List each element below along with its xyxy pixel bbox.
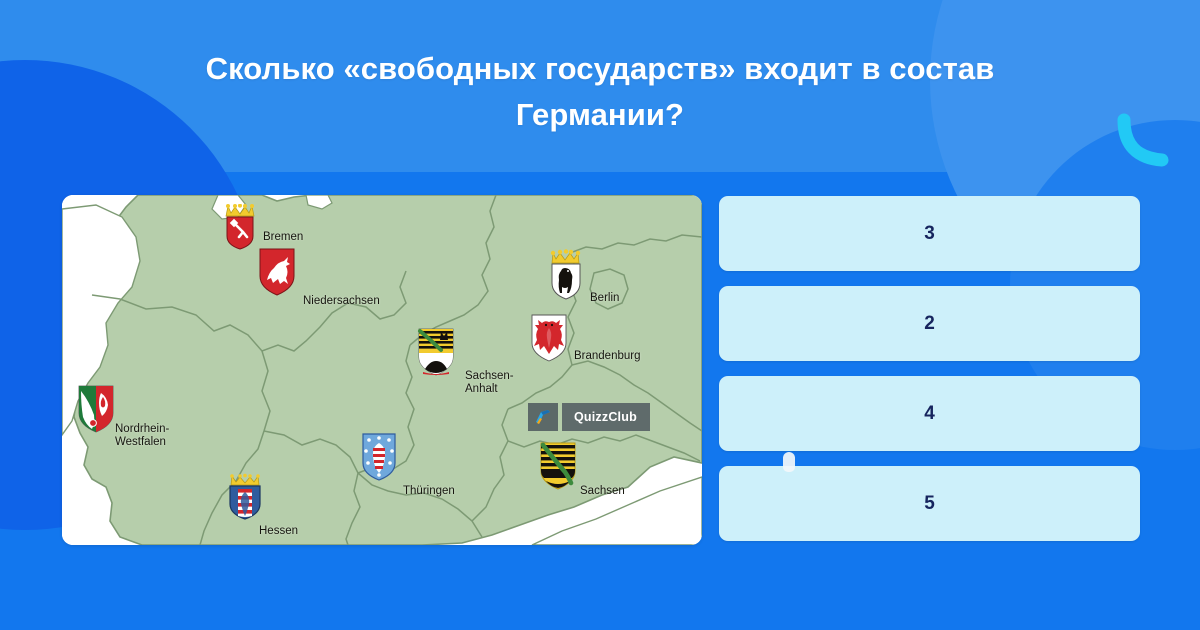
map-label-brandenburg: Brandenburg [574,350,641,363]
coat-of-arms-bremen [222,204,258,250]
map-label-bremen: Bremen [263,231,303,244]
coat-of-arms-niedersachsen [258,248,296,296]
coat-of-arms-hessen [227,472,263,520]
map-label-nordrhein-westfalen: Nordrhein- Westfalen [115,423,169,449]
watermark: QuizzClub [528,403,650,431]
coat-of-arms-berlin [549,247,583,300]
graduation-cap-icon [528,403,558,431]
coat-of-arms-thueringen [361,433,397,481]
coat-of-arms-brandenburg [530,314,568,362]
watermark-brand: QuizzClub [562,403,650,431]
answer-option-3[interactable]: 4 [719,376,1140,451]
coat-of-arms-sachsen [539,442,577,490]
map-label-sachsen-anhalt: Sachsen- Anhalt [465,370,514,396]
answer-option-4[interactable]: 5 [719,466,1140,541]
coat-of-arms-sachsen-anhalt [417,328,455,376]
map-label-niedersachsen: Niedersachsen [303,295,380,308]
map-label-hessen: Hessen [259,525,298,538]
coat-of-arms-nordrhein-westfalen [77,385,115,433]
map-label-sachsen: Sachsen [580,485,625,498]
cursor-indicator [783,452,795,472]
answer-options-list: 3 2 4 5 [719,196,1140,541]
map-label-thueringen: Thüringen [403,485,455,498]
page-title: Сколько «свободных государств» входит в … [0,46,1200,138]
answer-option-1[interactable]: 3 [719,196,1140,271]
answer-option-2[interactable]: 2 [719,286,1140,361]
map-label-berlin: Berlin [590,292,619,305]
map-panel: Bremen Niedersachsen Nordrhein- Westfale… [62,195,702,545]
